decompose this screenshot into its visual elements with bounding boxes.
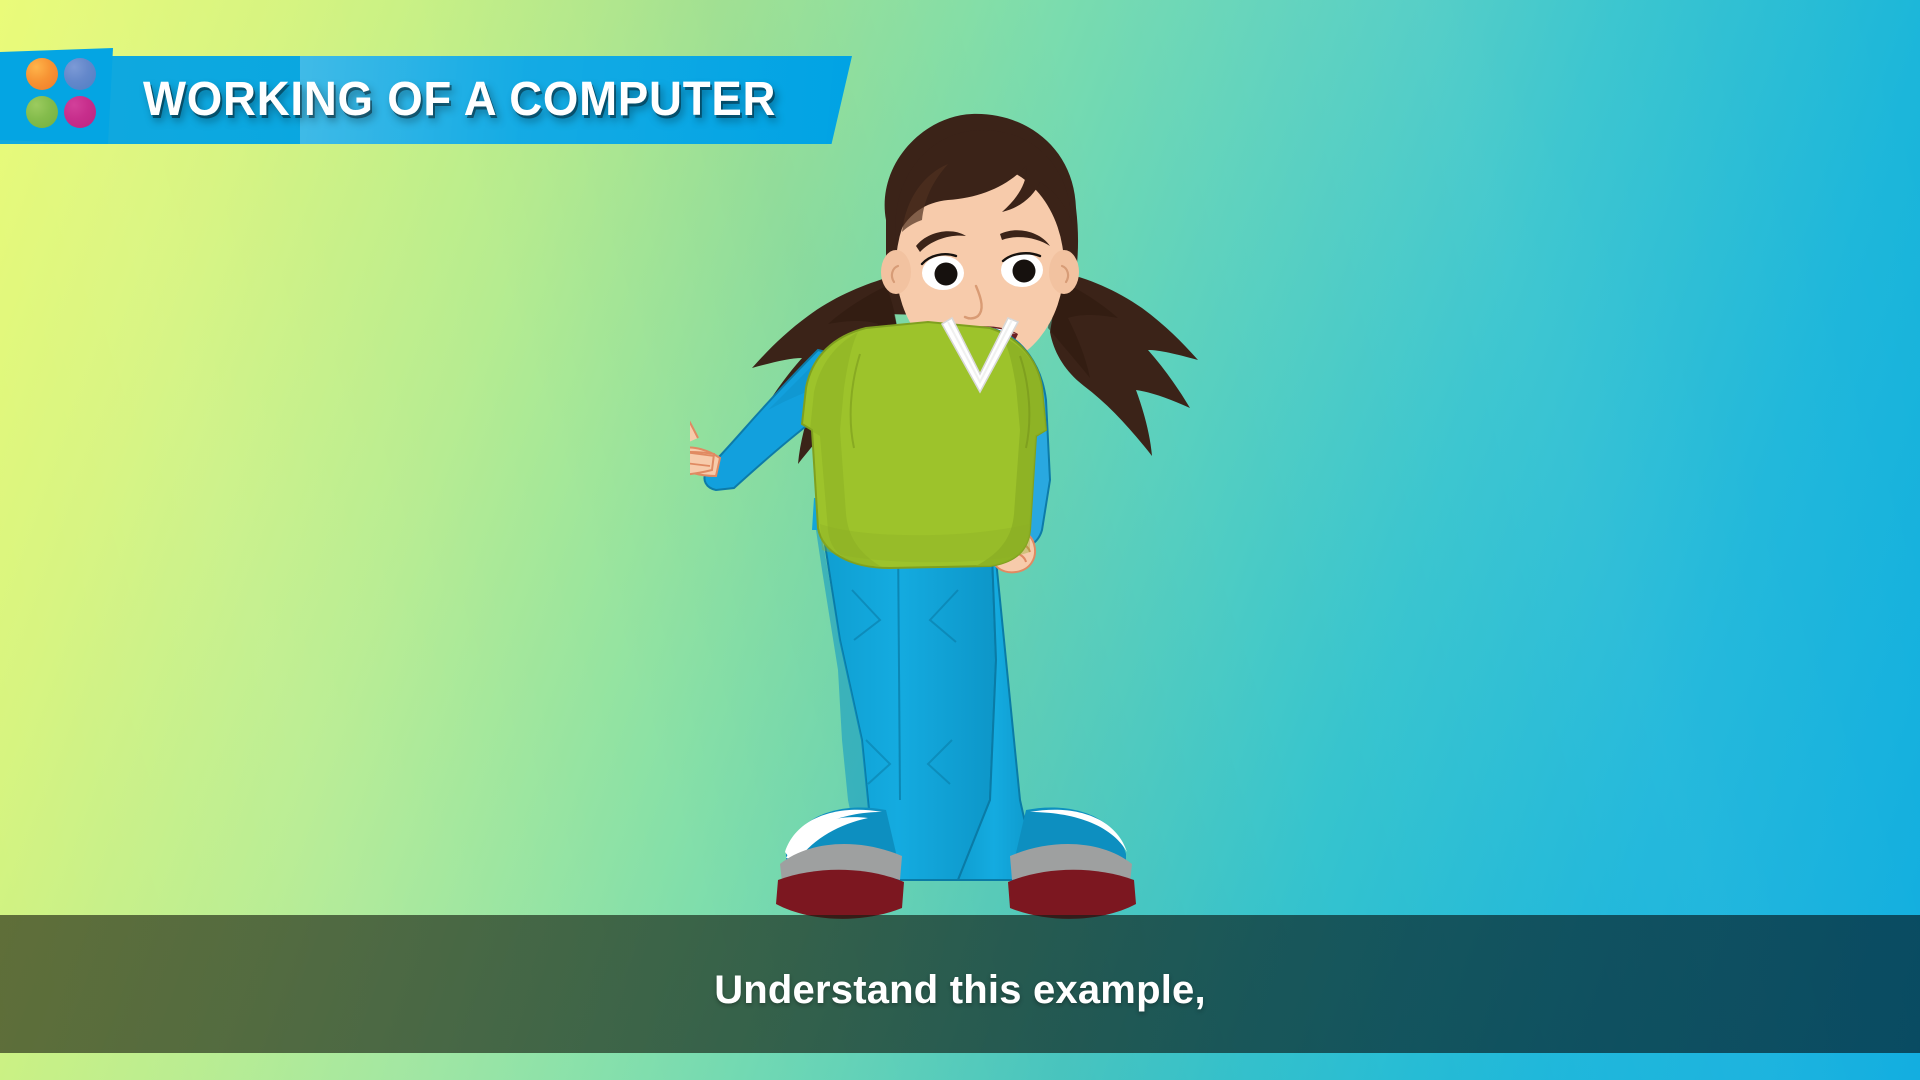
logo-dot-magenta-icon	[64, 96, 96, 128]
logo-dot-blue-icon	[64, 58, 96, 90]
slide-canvas: WORKING OF A COMPUTER Understand this ex…	[0, 0, 1920, 1080]
subtitle-caption: Understand this example,	[0, 968, 1920, 1013]
character-illustration	[690, 100, 1250, 960]
logo-dot-orange-icon	[26, 58, 58, 90]
four-dot-logo	[26, 58, 98, 130]
logo-dot-green-icon	[26, 96, 58, 128]
page-title: WORKING OF A COMPUTER	[143, 56, 776, 144]
